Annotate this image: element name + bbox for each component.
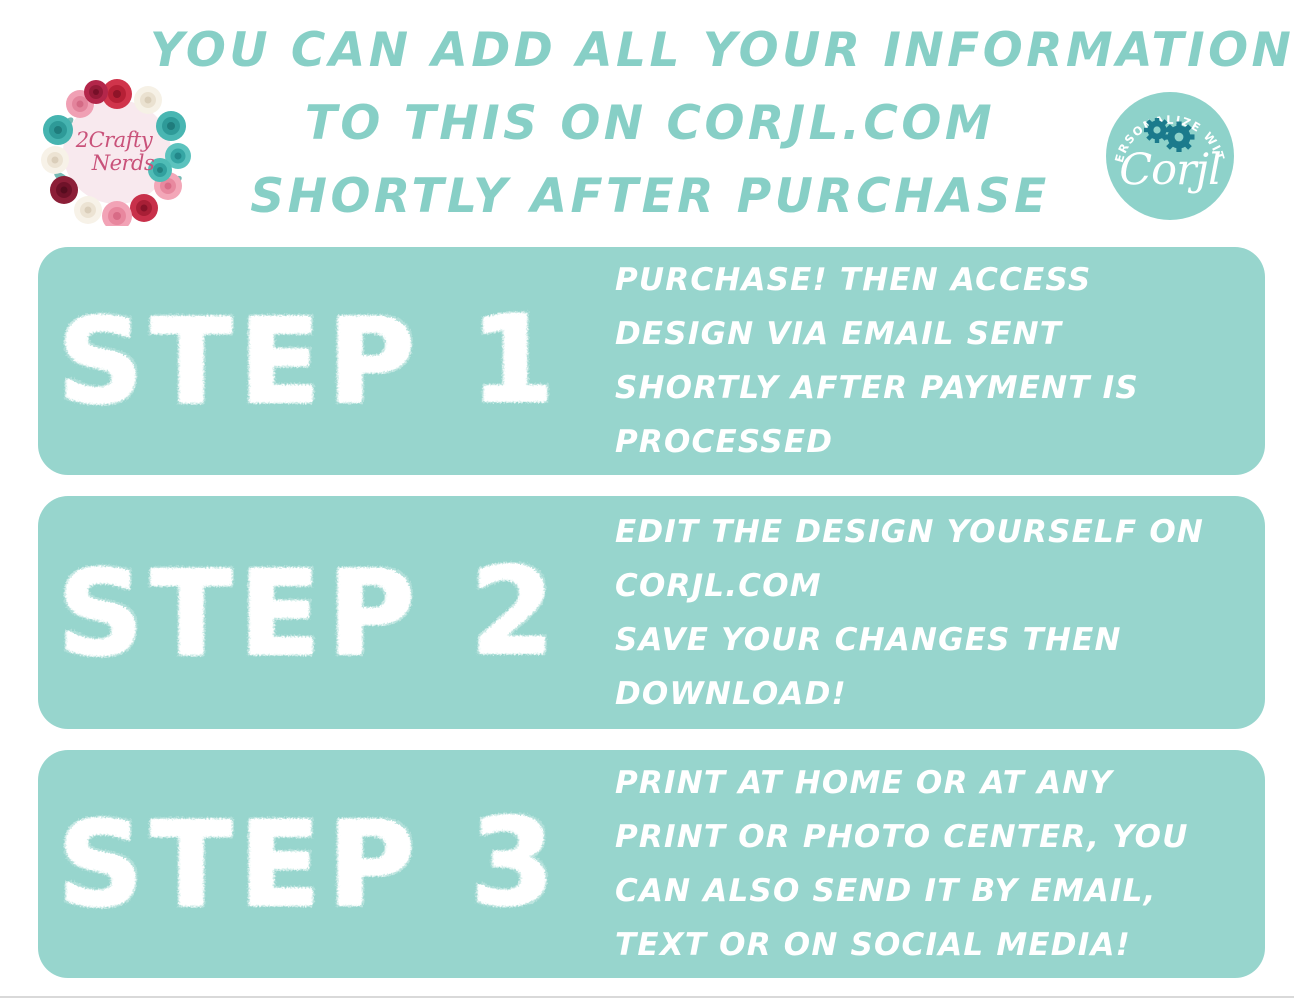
instruction-graphic: YOU CAN ADD ALL YOUR INFORMATION TO THIS…: [0, 0, 1294, 1000]
step-card: STEP 3 PRINT AT HOME OR AT ANY PRINT OR …: [38, 750, 1265, 978]
desc-line: SAVE YOUR CHANGES THEN: [615, 613, 1253, 667]
step-word: STEP: [58, 302, 423, 420]
steps-list: STEP 1 PURCHASE! THEN ACCESS DESIGN VIA …: [38, 247, 1265, 999]
step-word: STEP: [58, 805, 423, 923]
headline-line-1: YOU CAN ADD ALL YOUR INFORMATION: [150, 14, 1150, 87]
headline-line-3: SHORTLY AFTER PURCHASE: [150, 160, 1150, 233]
desc-line: EDIT THE DESIGN YOURSELF ON: [615, 505, 1253, 559]
floral-wreath-icon: [38, 78, 196, 226]
headline-line-2: TO THIS ON CORJL.COM: [150, 87, 1150, 160]
desc-line: SHORTLY AFTER PAYMENT IS: [615, 361, 1253, 415]
step-card: STEP 1 PURCHASE! THEN ACCESS DESIGN VIA …: [38, 247, 1265, 475]
desc-line: PRINT OR PHOTO CENTER, YOU: [615, 810, 1253, 864]
step-description: PRINT AT HOME OR AT ANY PRINT OR PHOTO C…: [615, 756, 1265, 972]
desc-line: CORJL.COM: [615, 559, 1253, 613]
step-description: PURCHASE! THEN ACCESS DESIGN VIA EMAIL S…: [615, 253, 1265, 469]
step-card: STEP 2 EDIT THE DESIGN YOURSELF ON CORJL…: [38, 496, 1265, 729]
step-number: 1: [471, 302, 555, 420]
brand-logo: 2Crafty Nerds: [38, 78, 196, 226]
step-label: STEP 1: [38, 302, 615, 420]
step-label: STEP 3: [38, 805, 615, 923]
step-description: EDIT THE DESIGN YOURSELF ON CORJL.COM SA…: [615, 505, 1265, 721]
step-word: STEP: [58, 554, 423, 672]
corjl-badge: PERSONALIZE WITH: [1106, 92, 1234, 220]
bottom-divider: [0, 996, 1294, 998]
header: YOU CAN ADD ALL YOUR INFORMATION TO THIS…: [0, 0, 1294, 240]
desc-line: TEXT OR ON SOCIAL MEDIA!: [615, 918, 1253, 972]
desc-line: DESIGN VIA EMAIL SENT: [615, 307, 1253, 361]
step-label: STEP 2: [38, 554, 615, 672]
page-title: YOU CAN ADD ALL YOUR INFORMATION TO THIS…: [150, 14, 1150, 233]
desc-line: PRINT AT HOME OR AT ANY: [615, 756, 1253, 810]
step-number: 2: [471, 554, 555, 672]
desc-line: PURCHASE! THEN ACCESS: [615, 253, 1253, 307]
desc-line: PROCESSED: [615, 415, 1253, 469]
desc-line: CAN ALSO SEND IT BY EMAIL,: [615, 864, 1253, 918]
step-number: 3: [471, 805, 555, 923]
desc-line: DOWNLOAD!: [615, 667, 1253, 721]
corjl-wordmark: Corjl: [1106, 146, 1234, 194]
